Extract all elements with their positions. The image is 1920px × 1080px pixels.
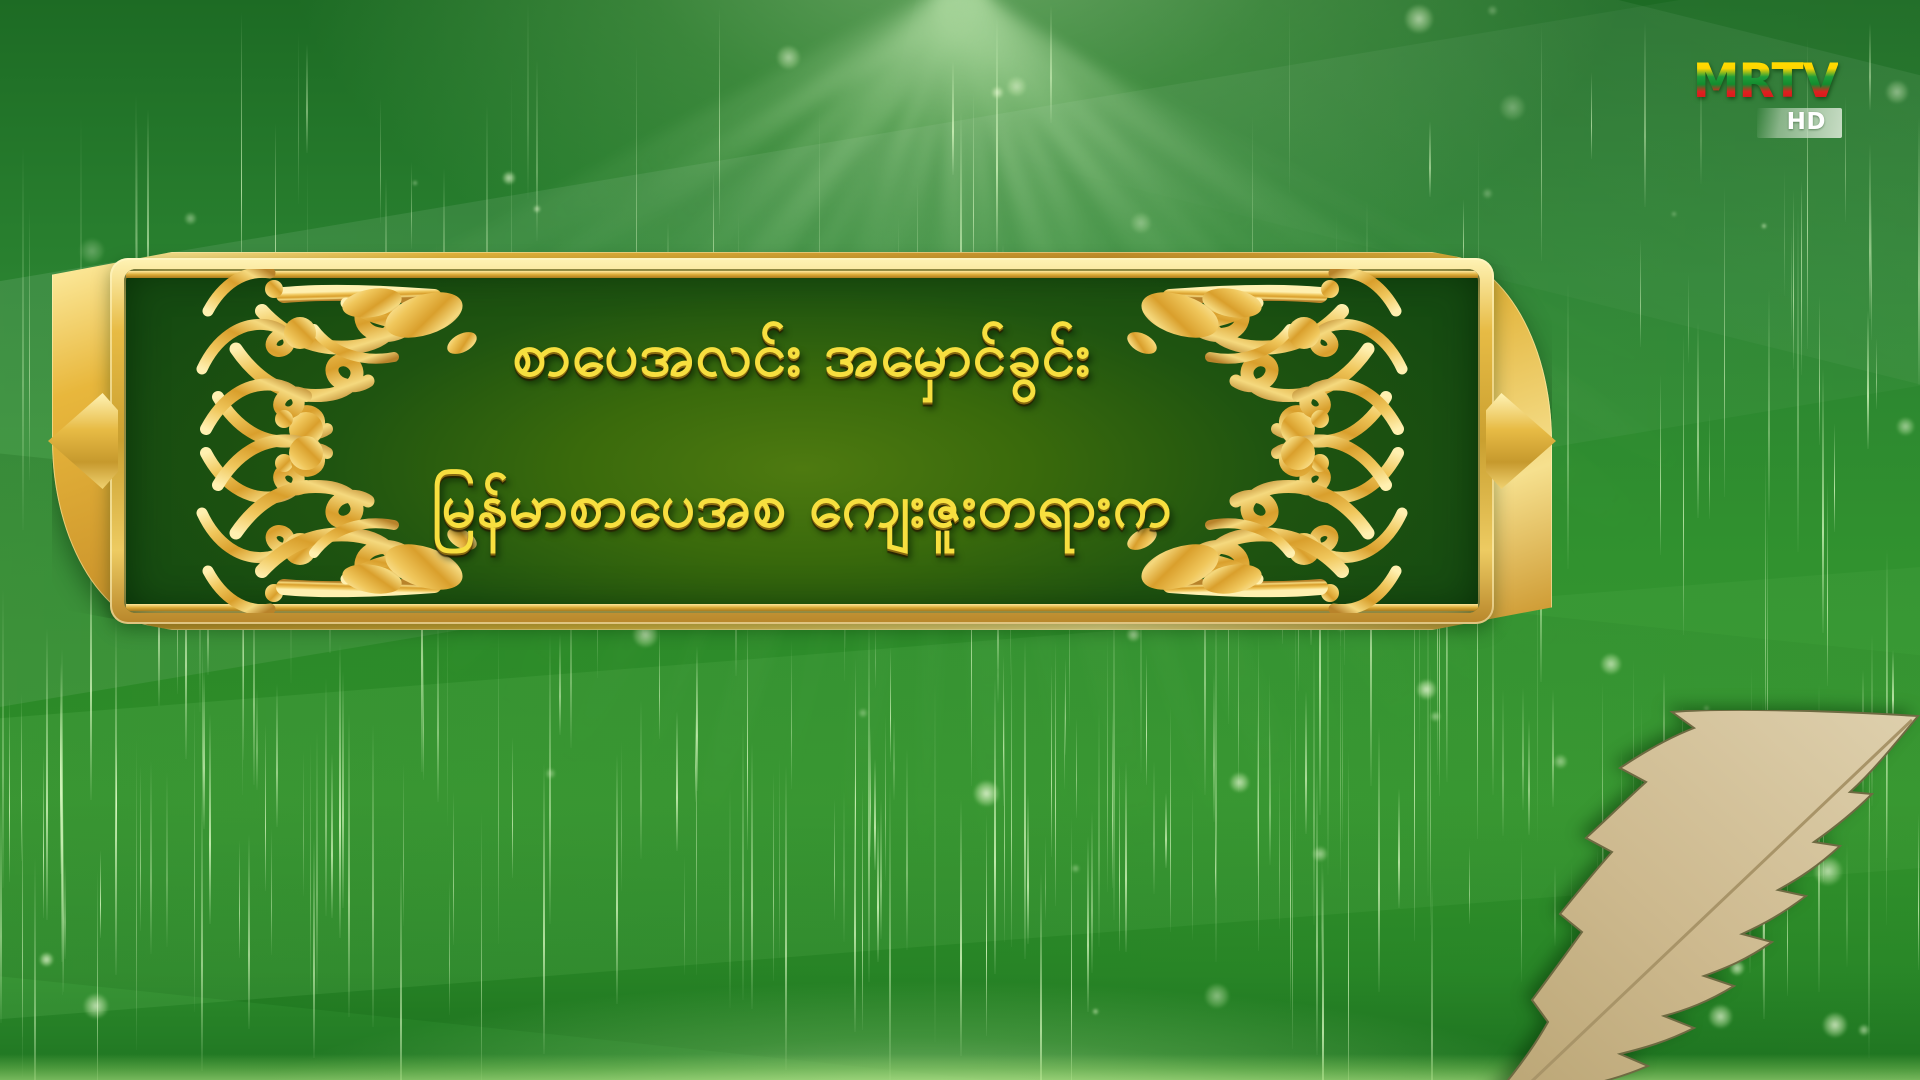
light-streak — [372, 724, 374, 1027]
light-streak — [22, 827, 23, 1037]
light-streak — [621, 741, 622, 891]
light-streak — [960, 799, 962, 1056]
light-streak — [339, 644, 341, 938]
light-streak — [1292, 808, 1293, 1049]
light-streak — [893, 717, 895, 800]
bokeh-particle — [776, 45, 801, 70]
bokeh-particle — [1729, 960, 1745, 976]
bokeh-particle — [1813, 856, 1843, 886]
light-streak — [729, 787, 731, 1008]
light-streak — [1011, 651, 1012, 947]
light-streak — [1024, 639, 1026, 959]
light-streak — [862, 787, 863, 1030]
light-streak — [1107, 636, 1108, 892]
light-streak — [1763, 734, 1765, 1019]
light-streak — [1146, 653, 1147, 785]
light-streak — [325, 678, 327, 916]
light-streak — [1027, 793, 1029, 944]
light-streak — [1112, 709, 1113, 888]
light-streak — [1823, 741, 1824, 882]
light-streak — [64, 862, 66, 959]
plaque-inner-panel: စာပေအလင်း အမှောင်ခွင်း မြန်မာစာပေအစ ကျေး… — [124, 269, 1480, 613]
bokeh-particle — [1071, 864, 1080, 873]
light-streak — [747, 617, 748, 850]
light-streak — [512, 737, 513, 878]
light-streak — [1871, 197, 1872, 340]
light-streak — [400, 861, 402, 1080]
light-streak — [880, 799, 882, 939]
light-streak — [29, 208, 30, 480]
light-streak — [874, 759, 876, 870]
light-streak — [1050, 5, 1052, 123]
light-streak — [684, 856, 685, 975]
bokeh-particle — [1006, 76, 1027, 97]
light-streak — [676, 711, 678, 851]
bokeh-particle — [1671, 211, 1677, 217]
light-streak — [1886, 625, 1887, 925]
title-line-1: စာပေအလင်း အမှောင်ခွင်း — [274, 321, 1330, 390]
light-streak — [877, 819, 879, 962]
light-streak — [1119, 763, 1120, 951]
title-card-stage: MRTV HD — [0, 0, 1920, 1080]
light-streak — [1892, 650, 1894, 730]
light-streak — [1322, 868, 1324, 1080]
bokeh-particle — [991, 86, 1004, 99]
light-streak — [1502, 689, 1504, 836]
light-streak — [906, 748, 908, 950]
light-streak — [380, 98, 381, 223]
light-streak — [202, 640, 203, 822]
light-streak — [1767, 518, 1768, 849]
plaque-top-rule — [126, 271, 1478, 278]
light-streak — [1192, 788, 1193, 940]
light-streak — [1827, 481, 1828, 686]
light-streak — [1051, 665, 1052, 857]
light-streak — [875, 621, 876, 688]
light-streak — [855, 658, 856, 891]
light-streak — [640, 700, 642, 859]
light-streak — [1787, 853, 1788, 996]
light-streak — [265, 724, 266, 891]
light-streak — [1791, 228, 1792, 336]
light-streak — [1862, 670, 1864, 797]
light-streak — [100, 850, 101, 938]
light-streak — [1313, 641, 1315, 925]
bokeh-particle — [1204, 983, 1230, 1009]
bokeh-particle — [1499, 94, 1526, 121]
light-streak — [276, 684, 278, 827]
light-streak — [1663, 672, 1665, 838]
light-streak — [22, 777, 23, 1077]
light-streak — [423, 646, 424, 780]
light-streak — [1876, 338, 1877, 409]
light-streak — [437, 620, 439, 802]
light-streak — [1055, 642, 1056, 906]
light-streak — [1522, 687, 1524, 810]
light-streak — [1641, 702, 1642, 924]
light-streak — [271, 828, 272, 955]
light-streak — [1597, 848, 1598, 950]
light-streak — [61, 648, 63, 962]
bottom-edge-light — [0, 1054, 1920, 1080]
light-streak — [994, 679, 996, 974]
light-streak — [1431, 878, 1433, 1080]
light-streak — [779, 757, 780, 958]
light-streak — [115, 619, 117, 975]
bokeh-particle — [533, 205, 541, 213]
light-streak — [559, 634, 561, 735]
title-plaque: စာပေအလင်း အမှောင်ခွင်း မြန်မာစာပေအစ ကျေး… — [52, 252, 1552, 630]
light-streak — [1398, 788, 1400, 908]
light-streak — [2, 588, 4, 888]
light-streak — [298, 31, 299, 204]
bokeh-particle — [1885, 80, 1909, 104]
light-streak — [203, 669, 205, 829]
light-streak — [248, 834, 250, 1029]
light-streak — [1590, 872, 1591, 1080]
light-streak — [449, 880, 450, 1015]
light-streak — [1279, 771, 1280, 929]
light-streak — [751, 742, 753, 1009]
light-streak — [616, 754, 618, 1004]
light-streak — [140, 765, 141, 931]
light-streak — [1818, 684, 1820, 992]
light-streak — [934, 682, 936, 1042]
light-streak — [1606, 870, 1608, 1023]
light-streak — [1591, 72, 1592, 159]
light-streak — [1469, 846, 1470, 924]
bokeh-particle — [412, 180, 418, 186]
light-streak — [889, 783, 891, 1080]
light-streak — [1918, 813, 1919, 970]
bokeh-particle — [1416, 679, 1437, 700]
light-streak — [1868, 775, 1870, 1058]
light-streak — [536, 59, 538, 241]
light-streak — [870, 726, 871, 857]
light-streak — [1045, 836, 1046, 920]
light-streak — [136, 739, 137, 1050]
light-streak — [348, 713, 350, 1017]
bokeh-particle — [545, 768, 556, 779]
light-streak — [1541, 25, 1542, 261]
light-streak — [1215, 828, 1216, 898]
bokeh-particle — [1600, 653, 1622, 675]
light-streak — [60, 699, 61, 817]
bokeh-particle — [1430, 711, 1441, 722]
light-streak — [1040, 872, 1042, 1080]
light-streak — [1660, 374, 1661, 555]
bokeh-particle — [1482, 188, 1493, 199]
light-streak — [1765, 457, 1766, 756]
light-streak — [1749, 803, 1751, 973]
light-streak — [1709, 413, 1710, 519]
light-streak — [742, 722, 744, 1000]
bokeh-particle — [1761, 223, 1767, 229]
feather-leaf-icon — [1420, 710, 1920, 1080]
title-line-2: မြန်မာစာပေအစ ကျေးဇူးတရားက — [274, 472, 1330, 541]
light-streak — [1342, 653, 1343, 842]
light-streak — [1801, 182, 1802, 302]
light-streak — [9, 698, 10, 882]
light-streak — [834, 799, 835, 920]
light-streak — [952, 61, 954, 175]
light-streak — [313, 837, 315, 1058]
bokeh-particle — [1404, 4, 1434, 34]
light-streak — [885, 715, 886, 881]
light-streak — [1064, 690, 1065, 789]
light-streak — [1269, 673, 1270, 786]
light-streak — [1290, 722, 1291, 1010]
light-streak — [1378, 726, 1380, 992]
light-streak — [1552, 689, 1554, 807]
light-streak — [1289, 6, 1290, 193]
light-streak — [1602, 682, 1603, 931]
light-streak — [498, 627, 499, 944]
light-streak — [1170, 706, 1171, 932]
light-streak — [1819, 296, 1820, 445]
light-streak — [209, 714, 211, 924]
light-streak — [1777, 707, 1778, 909]
light-streak — [785, 765, 787, 1070]
light-streak — [1257, 710, 1258, 876]
light-streak — [43, 754, 44, 918]
light-streak — [719, 7, 720, 225]
bokeh-particle — [1229, 772, 1250, 793]
bokeh-particle — [83, 993, 109, 1019]
light-streak — [1867, 310, 1869, 449]
light-streak — [1683, 334, 1684, 635]
light-streak — [256, 688, 258, 790]
light-streak — [1762, 692, 1764, 1000]
light-streak — [1065, 658, 1066, 755]
light-streak — [63, 800, 64, 992]
light-streak — [1567, 283, 1569, 569]
bokeh-particle — [1312, 846, 1328, 862]
light-streak — [1724, 186, 1725, 497]
light-streak — [0, 796, 2, 1023]
mrtv-wordmark: MRTV — [1693, 58, 1838, 105]
light-streak — [331, 753, 333, 918]
light-streak — [996, 17, 998, 262]
bokeh-particle — [1697, 823, 1707, 833]
light-streak — [997, 632, 999, 703]
light-streak — [453, 791, 454, 945]
bokeh-particle — [1708, 1004, 1733, 1029]
light-streak — [1238, 607, 1239, 792]
light-streak — [201, 793, 203, 1071]
bokeh-particle — [1487, 5, 1498, 16]
light-streak — [1776, 780, 1777, 914]
light-streak — [1768, 290, 1770, 520]
light-streak — [1869, 143, 1871, 319]
light-streak — [659, 626, 660, 739]
bokeh-particle — [973, 780, 1000, 807]
light-streak — [1340, 625, 1341, 882]
plaque-bottom-rule — [126, 604, 1478, 611]
light-streak — [22, 146, 24, 530]
light-streak — [1348, 750, 1349, 1080]
bokeh-particle — [1858, 1024, 1870, 1036]
hd-badge: HD — [1757, 108, 1842, 138]
light-streak — [1528, 719, 1530, 835]
light-streak — [303, 751, 304, 896]
bokeh-particle — [502, 171, 516, 185]
bokeh-particle — [858, 708, 868, 718]
light-streak — [1603, 792, 1604, 1045]
light-streak — [1305, 691, 1307, 834]
light-streak — [21, 694, 22, 861]
light-streak — [868, 615, 870, 982]
light-streak — [1845, 96, 1846, 222]
light-streak — [1316, 767, 1318, 1055]
light-streak — [1091, 810, 1093, 973]
light-streak — [1269, 726, 1271, 865]
light-streak — [1834, 423, 1835, 532]
light-streak — [1621, 748, 1622, 1022]
light-streak — [1076, 718, 1077, 818]
light-streak — [1429, 121, 1431, 197]
light-streak — [1801, 179, 1802, 375]
light-streak — [543, 763, 545, 1054]
light-streak — [116, 744, 117, 842]
bokeh-particle — [1092, 1008, 1099, 1015]
mrtv-channel-logo: MRTV HD — [1642, 58, 1842, 150]
bottom-stage-glow — [0, 890, 1920, 1080]
light-streak — [1213, 672, 1215, 822]
light-streak — [1871, 634, 1873, 806]
light-streak — [1430, 661, 1431, 925]
bokeh-particle — [1822, 1012, 1848, 1038]
bokeh-particle — [1896, 417, 1915, 436]
light-streak — [1215, 575, 1217, 962]
light-streak — [773, 772, 774, 981]
light-streak — [1846, 843, 1848, 967]
light-streak — [447, 604, 448, 826]
light-streak — [1869, 739, 1870, 849]
light-streak — [481, 811, 482, 1080]
light-streak — [46, 628, 48, 920]
light-streak — [1004, 692, 1005, 942]
light-streak — [1869, 23, 1871, 110]
light-streak — [1571, 862, 1572, 1080]
light-streak — [34, 858, 36, 1080]
light-streak — [194, 703, 195, 1012]
light-streak — [1697, 322, 1699, 518]
light-streak — [527, 2, 529, 199]
light-streak — [696, 646, 698, 791]
hd-badge-label: HD — [1787, 109, 1826, 135]
light-streak — [316, 731, 318, 994]
light-streak — [1321, 859, 1323, 970]
light-streak — [1003, 655, 1004, 806]
light-streak — [695, 712, 696, 802]
light-streak — [696, 653, 697, 975]
light-streak — [1258, 634, 1259, 951]
light-streak — [403, 763, 404, 926]
light-streak — [1554, 865, 1556, 946]
bokeh-particle — [1703, 705, 1710, 712]
light-streak — [97, 870, 98, 1080]
light-streak — [843, 791, 845, 942]
light-streak — [1793, 190, 1794, 369]
light-streak — [1784, 168, 1785, 296]
bokeh-particle — [1130, 212, 1152, 234]
light-streak — [1153, 761, 1155, 894]
light-streak — [166, 772, 168, 947]
light-streak — [306, 44, 308, 153]
light-streak — [890, 647, 891, 762]
bokeh-particle — [39, 952, 54, 967]
bokeh-particle — [184, 212, 197, 225]
light-streak — [1633, 659, 1634, 822]
bokeh-particle — [1553, 754, 1568, 769]
light-streak — [411, 162, 412, 249]
light-streak — [1688, 273, 1689, 363]
light-streak — [1640, 239, 1641, 347]
light-streak — [1125, 761, 1127, 952]
light-streak — [1682, 706, 1683, 812]
light-streak — [1521, 841, 1522, 982]
light-streak — [1087, 836, 1089, 1012]
light-streak — [342, 671, 344, 908]
light-streak — [150, 761, 152, 954]
light-streak — [1797, 209, 1799, 552]
light-streak — [791, 640, 792, 789]
light-streak — [1165, 793, 1167, 868]
light-streak — [60, 663, 62, 874]
light-streak — [239, 840, 240, 958]
light-streak — [986, 814, 987, 1036]
light-streak — [1098, 707, 1100, 947]
light-streak — [1751, 665, 1752, 939]
light-streak — [854, 775, 856, 1032]
light-streak — [549, 634, 551, 924]
light-streak — [1886, 549, 1888, 858]
title-text-block: စာပေအလင်း အမှောင်ခွင်း မြန်မာစာပေအစ ကျေး… — [124, 321, 1480, 541]
light-streak — [1071, 817, 1072, 1080]
light-streak — [62, 711, 63, 995]
light-streak — [1822, 368, 1824, 633]
light-streak — [310, 742, 311, 992]
